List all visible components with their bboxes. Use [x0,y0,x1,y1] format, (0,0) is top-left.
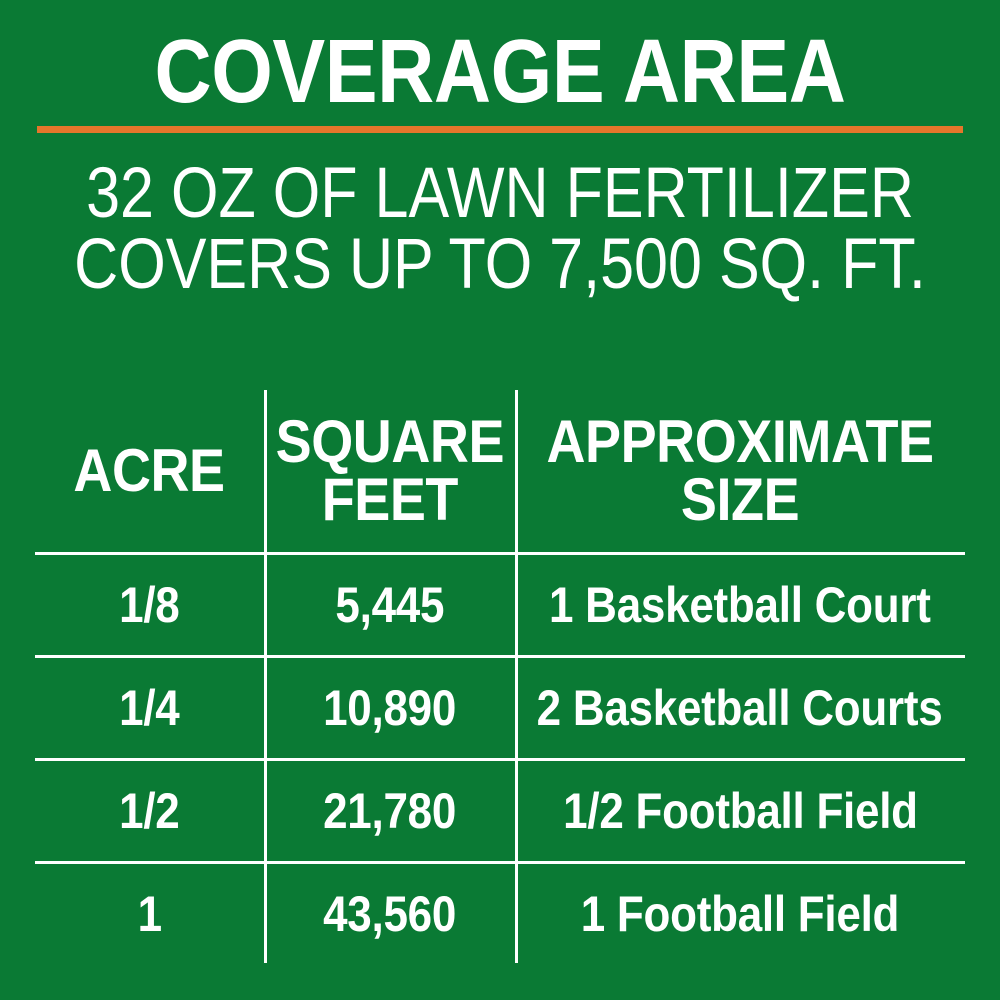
header-cell-acre: ACRE [35,390,264,552]
value-square-feet: 43,560 [323,889,456,939]
header-label-approximate-size: APPROXIMATE SIZE [546,413,933,529]
header-label-acre: ACRE [74,442,225,500]
cell-acre: 1/4 [35,658,264,758]
value-approximate-size: 1 Football Field [581,889,899,939]
table-row: 1/4 10,890 2 Basketball Courts [35,658,965,758]
table-header-row: ACRE SQUARE FEET APPROXIMATE SIZE [35,390,965,552]
value-approximate-size: 1 Basketball Court [549,580,931,630]
cell-approximate-size: 2 Basketball Courts [515,658,965,758]
value-approximate-size: 1/2 Football Field [563,786,918,836]
value-square-feet: 21,780 [323,786,456,836]
value-acre: 1/8 [119,580,179,630]
header-cell-square-feet: SQUARE FEET [264,390,515,552]
page-title: COVERAGE AREA [60,0,940,116]
cell-approximate-size: 1/2 Football Field [515,761,965,861]
cell-acre: 1/8 [35,555,264,655]
coverage-table: ACRE SQUARE FEET APPROXIMATE SIZE 1/8 5,… [35,390,965,965]
table-row: 1/2 21,780 1/2 Football Field [35,761,965,861]
cell-acre: 1 [35,864,264,964]
subtitle-line-1: 32 OZ OF LAWN FERTILIZER [70,158,930,229]
header-label-square-feet: SQUARE FEET [275,413,503,529]
cell-approximate-size: 1 Football Field [515,864,965,964]
value-acre: 1 [137,889,161,939]
cell-approximate-size: 1 Basketball Court [515,555,965,655]
value-acre: 1/2 [119,786,179,836]
cell-square-feet: 5,445 [264,555,515,655]
subtitle-line-2: COVERS UP TO 7,500 SQ. FT. [70,229,930,300]
cell-acre: 1/2 [35,761,264,861]
subtitle-block: 32 OZ OF LAWN FERTILIZER COVERS UP TO 7,… [0,158,1000,300]
coverage-area-infographic: COVERAGE AREA 32 OZ OF LAWN FERTILIZER C… [0,0,1000,1000]
value-square-feet: 5,445 [335,580,444,630]
header-cell-approximate-size: APPROXIMATE SIZE [515,390,965,552]
header-block: COVERAGE AREA [0,0,1000,116]
table-row: 1/8 5,445 1 Basketball Court [35,555,965,655]
value-acre: 1/4 [119,683,179,733]
value-square-feet: 10,890 [323,683,456,733]
value-approximate-size: 2 Basketball Courts [537,683,943,733]
table-row: 1 43,560 1 Football Field [35,864,965,964]
cell-square-feet: 21,780 [264,761,515,861]
title-divider-rule [37,126,963,133]
cell-square-feet: 43,560 [264,864,515,964]
cell-square-feet: 10,890 [264,658,515,758]
